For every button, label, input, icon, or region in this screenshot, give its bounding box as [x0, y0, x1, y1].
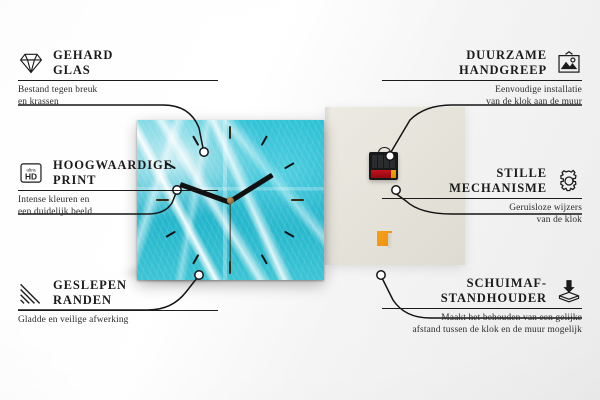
feature-heading: STILLE MECHANISME: [382, 166, 582, 195]
feature-stille-mechanisme[interactable]: STILLE MECHANISME Geruisloze wijzers van…: [382, 166, 582, 227]
second-hand: [229, 201, 230, 267]
feature-duurzame-handgreep[interactable]: DUURZAME HANDGREEP Eenvoudige installati…: [382, 48, 582, 109]
feature-subtitle: Intense kleuren en een duidelijk beeld: [18, 195, 218, 218]
feature-subtitle: Maakt het behouden van een gelijke afsta…: [382, 313, 582, 336]
feature-divider: [382, 198, 582, 199]
feature-title: HOOGWAARDIGE PRINT: [53, 158, 173, 187]
feature-hoogwaardige-print[interactable]: ultra HD HOOGWAARDIGE PRINT Intense kleu…: [18, 158, 218, 219]
framed-picture-hanger-icon: [556, 50, 582, 76]
beveled-edge-lines-icon: [18, 280, 44, 306]
feature-gehard-glas[interactable]: GEHARD GLAS Bestand tegen breuk en krass…: [18, 48, 218, 109]
feature-heading: DUURZAME HANDGREEP: [382, 48, 582, 77]
feature-schuimaf-standhouder[interactable]: SCHUIMAF- STANDHOUDER Maakt het behouden…: [382, 276, 582, 337]
feature-title: DUURZAME HANDGREEP: [459, 48, 547, 77]
arrow-onto-pad-icon: [556, 278, 582, 304]
feature-heading: ultra HD HOOGWAARDIGE PRINT: [18, 158, 218, 187]
feature-subtitle: Geruisloze wijzers van de klok: [382, 203, 582, 226]
svg-text:HD: HD: [25, 171, 37, 181]
diamond-icon: [18, 50, 44, 76]
feature-heading: GESLEPEN RANDEN: [18, 278, 218, 307]
feature-divider: [382, 308, 582, 309]
ultra-hd-badge-icon: ultra HD: [18, 160, 44, 186]
feature-subtitle: Bestand tegen breuk en krassen: [18, 85, 218, 108]
hour-hand: [229, 173, 274, 204]
feature-title: GEHARD GLAS: [53, 48, 113, 77]
feature-divider: [382, 80, 582, 81]
feature-divider: [18, 310, 218, 311]
clock-center-cap: [227, 197, 234, 204]
feature-divider: [18, 80, 218, 81]
infographic-canvas: GEHARD GLAS Bestand tegen breuk en krass…: [0, 0, 600, 400]
foam-spacer-pad: [377, 231, 392, 246]
feature-geslepen-randen[interactable]: GESLEPEN RANDEN Gladde en veilige afwerk…: [18, 278, 218, 327]
feature-title: STILLE MECHANISME: [449, 166, 547, 195]
feature-title: SCHUIMAF- STANDHOUDER: [441, 276, 547, 305]
feature-subtitle: Gladde en veilige afwerking: [18, 315, 218, 327]
feature-heading: GEHARD GLAS: [18, 48, 218, 77]
gear-icon: [556, 168, 582, 194]
feature-heading: SCHUIMAF- STANDHOUDER: [382, 276, 582, 305]
feature-divider: [18, 190, 218, 191]
feature-subtitle: Eenvoudige installatie van de klok aan d…: [382, 85, 582, 108]
feature-title: GESLEPEN RANDEN: [53, 278, 127, 307]
hanger-hook-icon: [378, 147, 391, 154]
